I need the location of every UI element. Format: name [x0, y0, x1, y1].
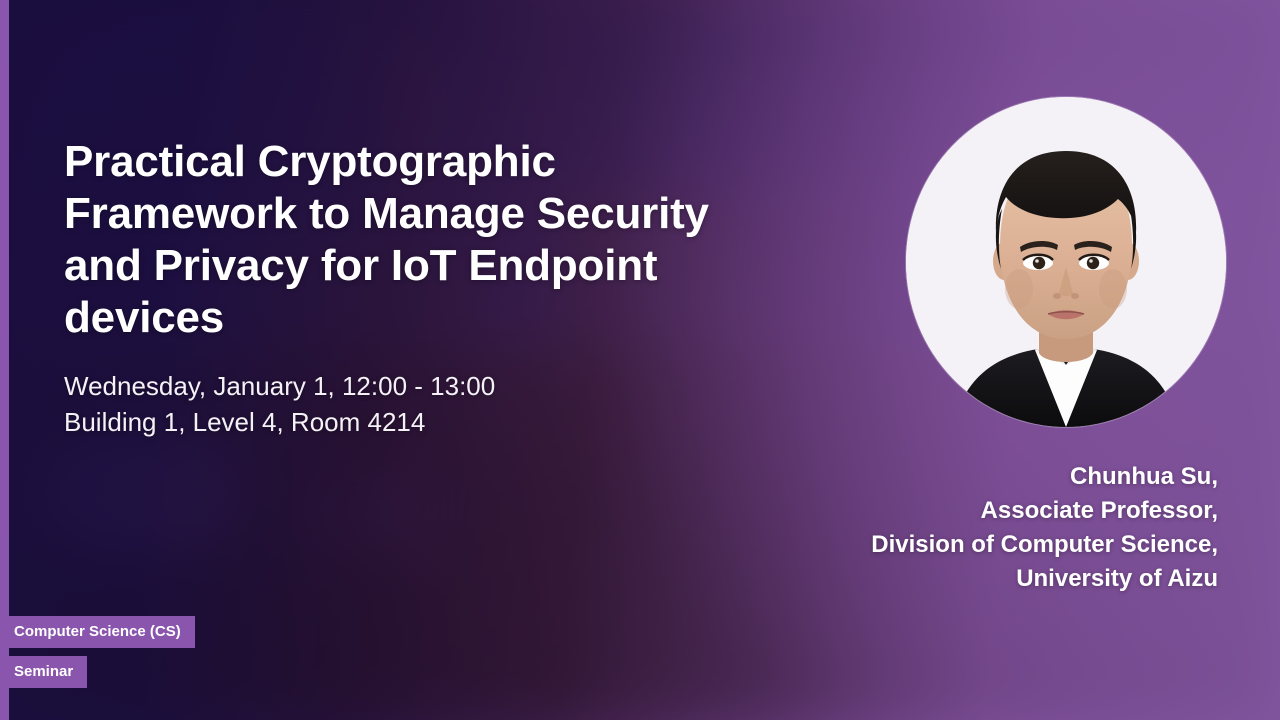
- speaker-portrait-avatar: [906, 97, 1226, 427]
- tag-row: Computer Science (CS): [0, 616, 195, 648]
- speaker-info: Chunhua Su, Associate Professor, Divisio…: [658, 460, 1218, 596]
- event-details: Wednesday, January 1, 12:00 - 13:00 Buil…: [64, 368, 495, 440]
- tag-row: Seminar: [0, 656, 195, 688]
- speaker-role: Associate Professor,: [658, 494, 1218, 528]
- page-title: Practical Cryptographic Framework to Man…: [64, 136, 764, 344]
- tag-computer-science[interactable]: Computer Science (CS): [0, 616, 195, 648]
- seminar-announcement-slide: Practical Cryptographic Framework to Man…: [0, 0, 1280, 720]
- tag-seminar[interactable]: Seminar: [0, 656, 87, 688]
- slide-content: Practical Cryptographic Framework to Man…: [0, 0, 1280, 720]
- speaker-institution: University of Aizu: [658, 562, 1218, 596]
- tag-list: Computer Science (CS) Seminar: [0, 616, 195, 688]
- portrait-illustration: [906, 97, 1226, 427]
- event-location: Building 1, Level 4, Room 4214: [64, 404, 495, 440]
- event-datetime: Wednesday, January 1, 12:00 - 13:00: [64, 368, 495, 404]
- speaker-division: Division of Computer Science,: [658, 528, 1218, 562]
- speaker-name: Chunhua Su,: [658, 460, 1218, 494]
